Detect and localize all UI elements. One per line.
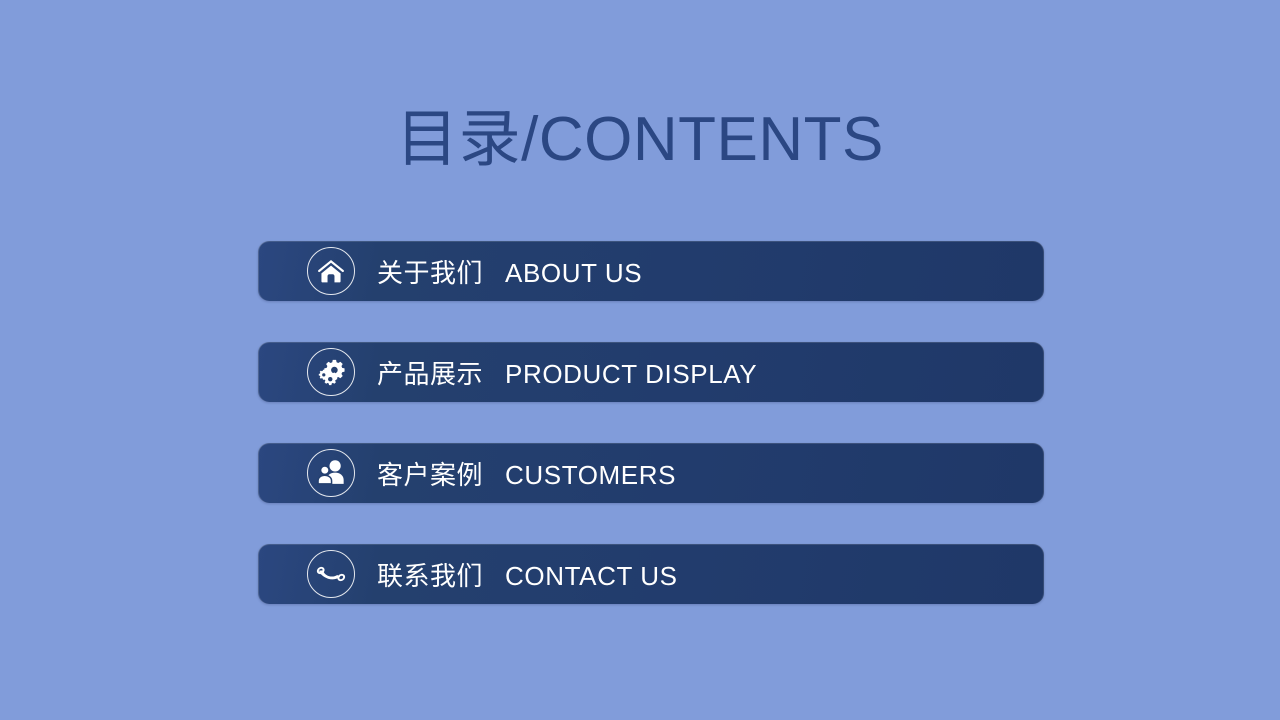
contents-item-label-cn: 联系我们 bbox=[377, 556, 483, 593]
contents-item-label-cn: 产品展示 bbox=[377, 354, 483, 391]
contents-item-labels: 联系我们 CONTACT US bbox=[377, 556, 678, 593]
contents-item-label-en: CUSTOMERS bbox=[505, 460, 676, 491]
contents-item-label-en: ABOUT US bbox=[505, 258, 642, 289]
contents-item-labels: 客户案例 CUSTOMERS bbox=[377, 455, 676, 492]
contents-item-about-us[interactable]: 关于我们 ABOUT US bbox=[258, 241, 1044, 301]
contents-item-customers[interactable]: 客户案例 CUSTOMERS bbox=[258, 443, 1044, 503]
people-icon bbox=[307, 449, 355, 497]
contents-item-label-en: PRODUCT DISPLAY bbox=[505, 359, 757, 390]
presentation-slide: 目录/CONTENTS 关于我们 ABOUT US bbox=[0, 0, 1280, 720]
contents-item-contact-us[interactable]: 联系我们 CONTACT US bbox=[258, 544, 1044, 604]
contents-list: 关于我们 ABOUT US bbox=[258, 241, 1044, 604]
contents-item-product-display[interactable]: 产品展示 PRODUCT DISPLAY bbox=[258, 342, 1044, 402]
gears-icon bbox=[307, 348, 355, 396]
page-title: 目录/CONTENTS bbox=[0, 97, 1280, 183]
contents-item-label-cn: 客户案例 bbox=[377, 455, 483, 492]
phone-icon bbox=[307, 550, 355, 598]
contents-item-label-en: CONTACT US bbox=[505, 561, 678, 592]
contents-item-labels: 产品展示 PRODUCT DISPLAY bbox=[377, 354, 757, 391]
home-icon bbox=[307, 247, 355, 295]
contents-item-labels: 关于我们 ABOUT US bbox=[377, 253, 642, 290]
contents-item-label-cn: 关于我们 bbox=[377, 253, 483, 290]
